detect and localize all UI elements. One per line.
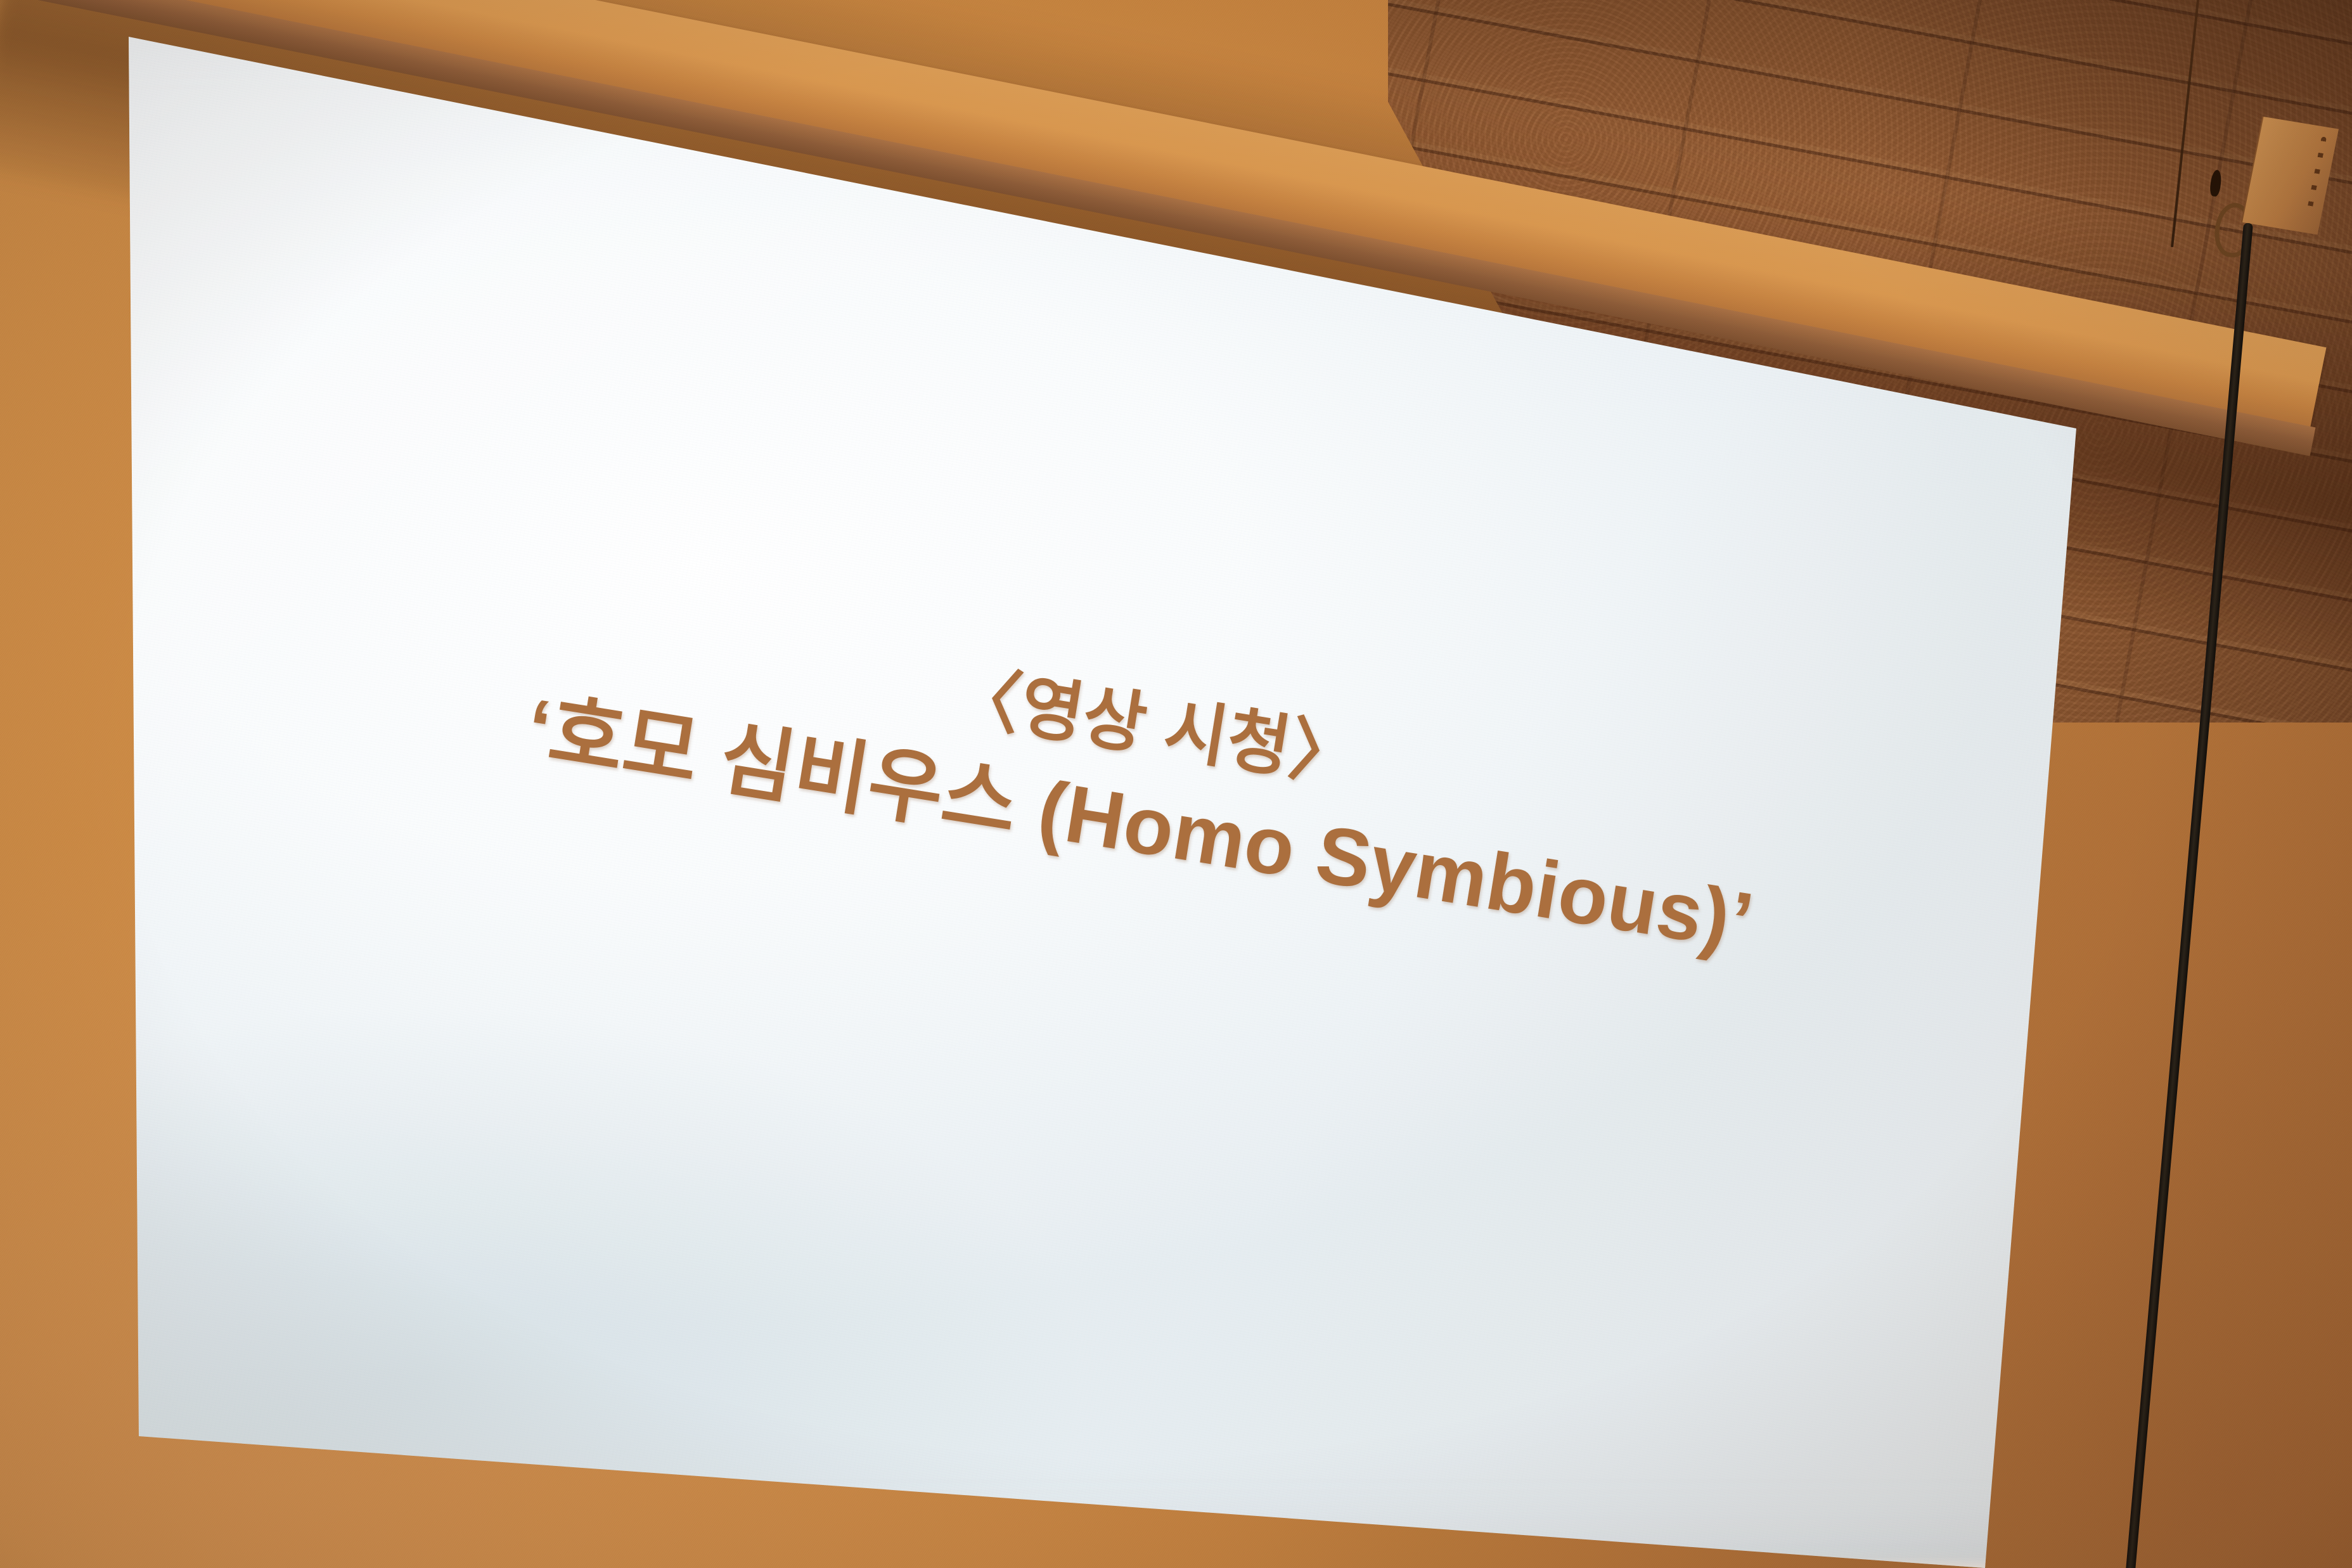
projection-screen-photo: 〈영상 시청〉 ‘호모 심비우스 (Homo Symbious)’ xyxy=(0,0,2352,1568)
